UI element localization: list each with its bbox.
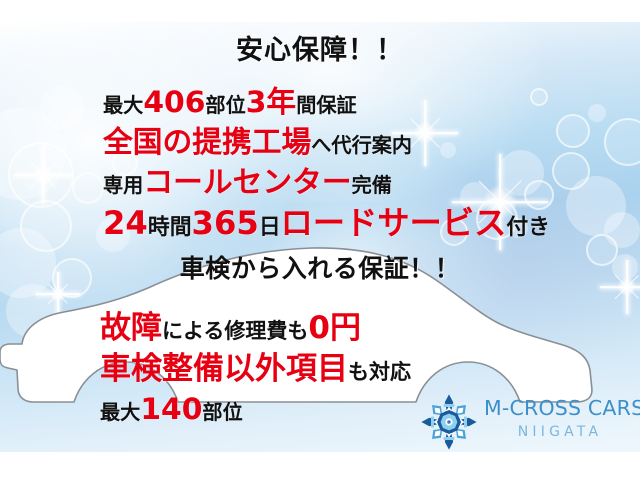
- snowflake-emblem-icon: [418, 392, 480, 452]
- section-subtitle: 車検から入れる保証！！: [0, 249, 640, 285]
- benefit-highlight-road-service: ロードサービス: [281, 204, 507, 242]
- benefit-line-repair-zero-yen: 故障による修理費も0円: [100, 313, 520, 344]
- bokeh-circle: [40, 86, 84, 130]
- bokeh-circle: [72, 172, 104, 204]
- advertisement-banner: 安心保障！！ 最大406部位3年間保証 全国の提携工場へ代行案内 専用コールセン…: [0, 0, 640, 480]
- benefit-text-segment: 間保証: [296, 93, 356, 117]
- benefit-text-segment: 最大: [100, 400, 140, 424]
- dealer-region: NIIGATA: [484, 425, 630, 439]
- benefits-upper-block: 最大406部位3年間保証 全国の提携工場へ代行案内 専用コールセンター完備 24…: [103, 88, 573, 250]
- bokeh-circle: [588, 104, 606, 122]
- benefit-text-segment: による修理費も: [162, 319, 308, 343]
- benefit-number-406: 406: [143, 85, 205, 120]
- benefit-text-segment: へ代行案内: [311, 133, 412, 157]
- benefit-line-nationwide: 全国の提携工場へ代行案内: [103, 128, 573, 158]
- benefit-highlight-call-center: コールセンター: [143, 165, 351, 200]
- benefit-text-segment: 時間: [148, 215, 192, 240]
- page-title: 安心保障！！: [0, 28, 640, 67]
- benefit-line-max-406: 最大406部位3年間保証: [103, 88, 573, 118]
- benefit-text-segment: 専用: [103, 173, 143, 197]
- dealer-logo: M-CROSS CARS NIIGATA: [418, 392, 630, 454]
- benefit-text-segment: 部位: [202, 400, 242, 424]
- benefit-line-call-center: 専用コールセンター完備: [103, 168, 573, 198]
- dealer-logo-text: M-CROSS CARS NIIGATA: [484, 398, 630, 439]
- benefit-line-beyond-inspection: 車検整備以外項目も対応: [100, 354, 520, 385]
- benefit-text-segment: 完備: [352, 173, 392, 197]
- benefit-text-segment: 最大: [103, 93, 143, 117]
- benefit-text-segment: 部位: [205, 93, 245, 117]
- benefit-text-segment: 日: [259, 215, 281, 240]
- benefit-number-140: 140: [140, 392, 202, 427]
- benefit-text-segment: 付き: [506, 215, 550, 240]
- benefit-highlight-beyond-inspection: 車検整備以外項目: [100, 351, 348, 387]
- benefit-highlight-breakdown: 故障: [100, 310, 162, 346]
- benefit-number-3years: 3年: [246, 85, 296, 120]
- benefit-highlight-nationwide: 全国の提携工場: [103, 125, 311, 160]
- benefit-text-segment: も対応: [348, 360, 411, 384]
- dealer-name: M-CROSS CARS: [484, 398, 630, 419]
- benefit-line-road-service: 24時間365日ロードサービス付き: [103, 207, 573, 239]
- benefit-number-zero-yen: 0円: [308, 310, 361, 346]
- benefit-number-24: 24: [103, 204, 148, 242]
- bokeh-circle: [8, 142, 74, 208]
- benefit-number-365: 365: [192, 204, 259, 242]
